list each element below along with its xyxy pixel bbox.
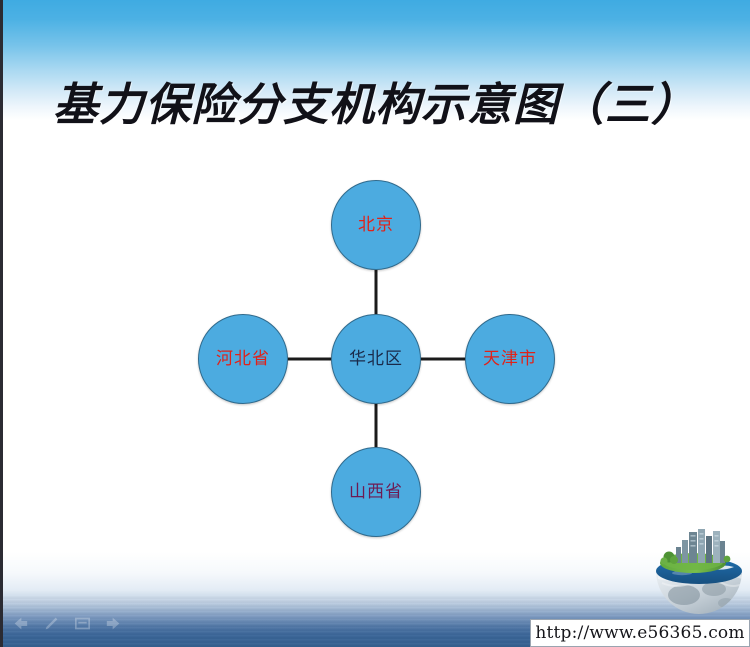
presentation-slide: 基力保险分支机构示意图（三） 北京 河北省 华北区 天津市 山西省: [0, 0, 750, 647]
diagram-node-north-china-region[interactable]: 华北区: [331, 314, 421, 404]
slide-title: 基力保险分支机构示意图（三）: [0, 68, 750, 133]
diagram-node-tianjin[interactable]: 天津市: [465, 314, 555, 404]
node-label-north-china-region: 华北区: [349, 351, 403, 368]
website-url-box[interactable]: http://www.e56365.com: [530, 619, 750, 647]
earth-globe-city-logo: [652, 527, 746, 619]
website-url-text: http://www.e56365.com: [535, 623, 744, 643]
node-label-shanxi: 山西省: [349, 484, 403, 501]
slide-left-edge-bar: [0, 0, 3, 647]
node-label-beijing: 北京: [358, 217, 394, 234]
city-skyline: [676, 529, 725, 563]
diagram-node-beijing[interactable]: 北京: [331, 180, 421, 270]
diagram-node-shanxi[interactable]: 山西省: [331, 447, 421, 537]
node-label-hebei: 河北省: [216, 351, 270, 368]
diagram-node-hebei[interactable]: 河北省: [198, 314, 288, 404]
node-label-tianjin: 天津市: [483, 351, 537, 368]
